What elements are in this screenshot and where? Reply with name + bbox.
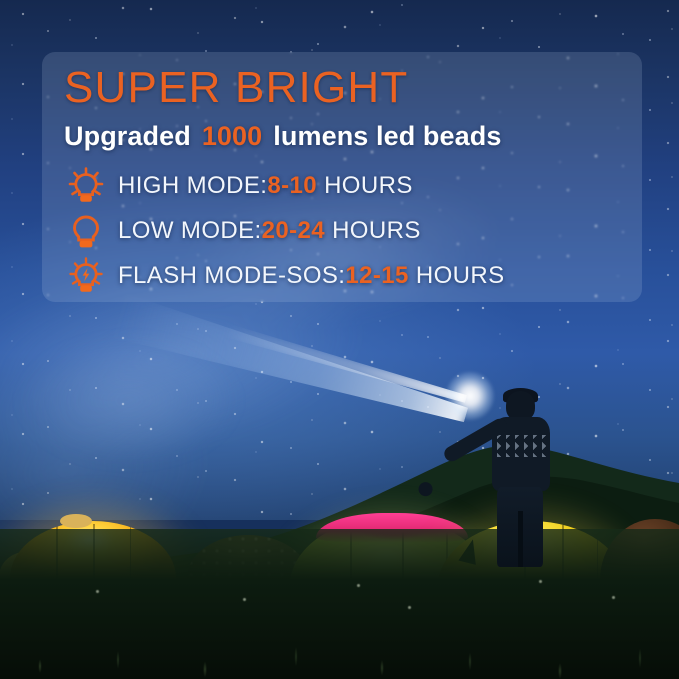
- flower-speck: [612, 596, 615, 599]
- mode-text-flash: FLASH MODE-SOS:12-15 HOURS: [118, 262, 505, 290]
- mode-text-high: HIGH MODE:8-10 HOURS: [118, 172, 413, 200]
- subheadline-suffix: lumens led beads: [273, 121, 501, 151]
- bulb-rays-icon: [64, 166, 108, 206]
- lumens-value: 1000: [202, 121, 262, 151]
- mode-row-low: LOW MODE:20-24 HOURS: [64, 209, 620, 254]
- flower-speck: [243, 598, 246, 601]
- flower-speck: [408, 606, 411, 609]
- mode-label-high: HIGH MODE:: [118, 172, 267, 199]
- subheadline: Upgraded1000lumens led beads: [64, 121, 620, 152]
- person-with-flashlight: [470, 391, 566, 567]
- mode-row-high: HIGH MODE:8-10 HOURS: [64, 164, 620, 209]
- info-panel: SUPER BRIGHT Upgraded1000lumens led bead…: [42, 52, 642, 302]
- sweater-pattern: [492, 435, 550, 457]
- person-legs: [497, 487, 543, 567]
- mode-unit-flash: HOURS: [416, 262, 505, 289]
- mode-value-high: 8-10: [267, 172, 317, 199]
- product-banner: SUPER BRIGHT Upgraded1000lumens led bead…: [0, 0, 679, 679]
- flower-speck: [539, 580, 542, 583]
- flower-speck: [96, 590, 99, 593]
- mode-unit-low: HOURS: [332, 217, 421, 244]
- page-title: SUPER BRIGHT: [64, 66, 620, 111]
- bulb-flash-icon: [64, 256, 108, 296]
- mode-value-flash: 12-15: [345, 262, 408, 289]
- bulb-plain-icon: [64, 211, 108, 251]
- subheadline-prefix: Upgraded: [64, 121, 191, 151]
- mode-unit-high: HOURS: [324, 172, 413, 199]
- mode-label-flash: FLASH MODE-SOS:: [118, 262, 345, 289]
- mode-value-low: 20-24: [262, 217, 325, 244]
- mode-list: HIGH MODE:8-10 HOURS LOW MODE:20-24: [64, 164, 620, 299]
- mode-text-low: LOW MODE:20-24 HOURS: [118, 217, 421, 245]
- grass-texture: [0, 519, 679, 679]
- flower-speck: [357, 584, 360, 587]
- mode-label-low: LOW MODE:: [118, 217, 262, 244]
- mode-row-flash: FLASH MODE-SOS:12-15 HOURS: [64, 254, 620, 299]
- person-leg-gap: [518, 511, 523, 567]
